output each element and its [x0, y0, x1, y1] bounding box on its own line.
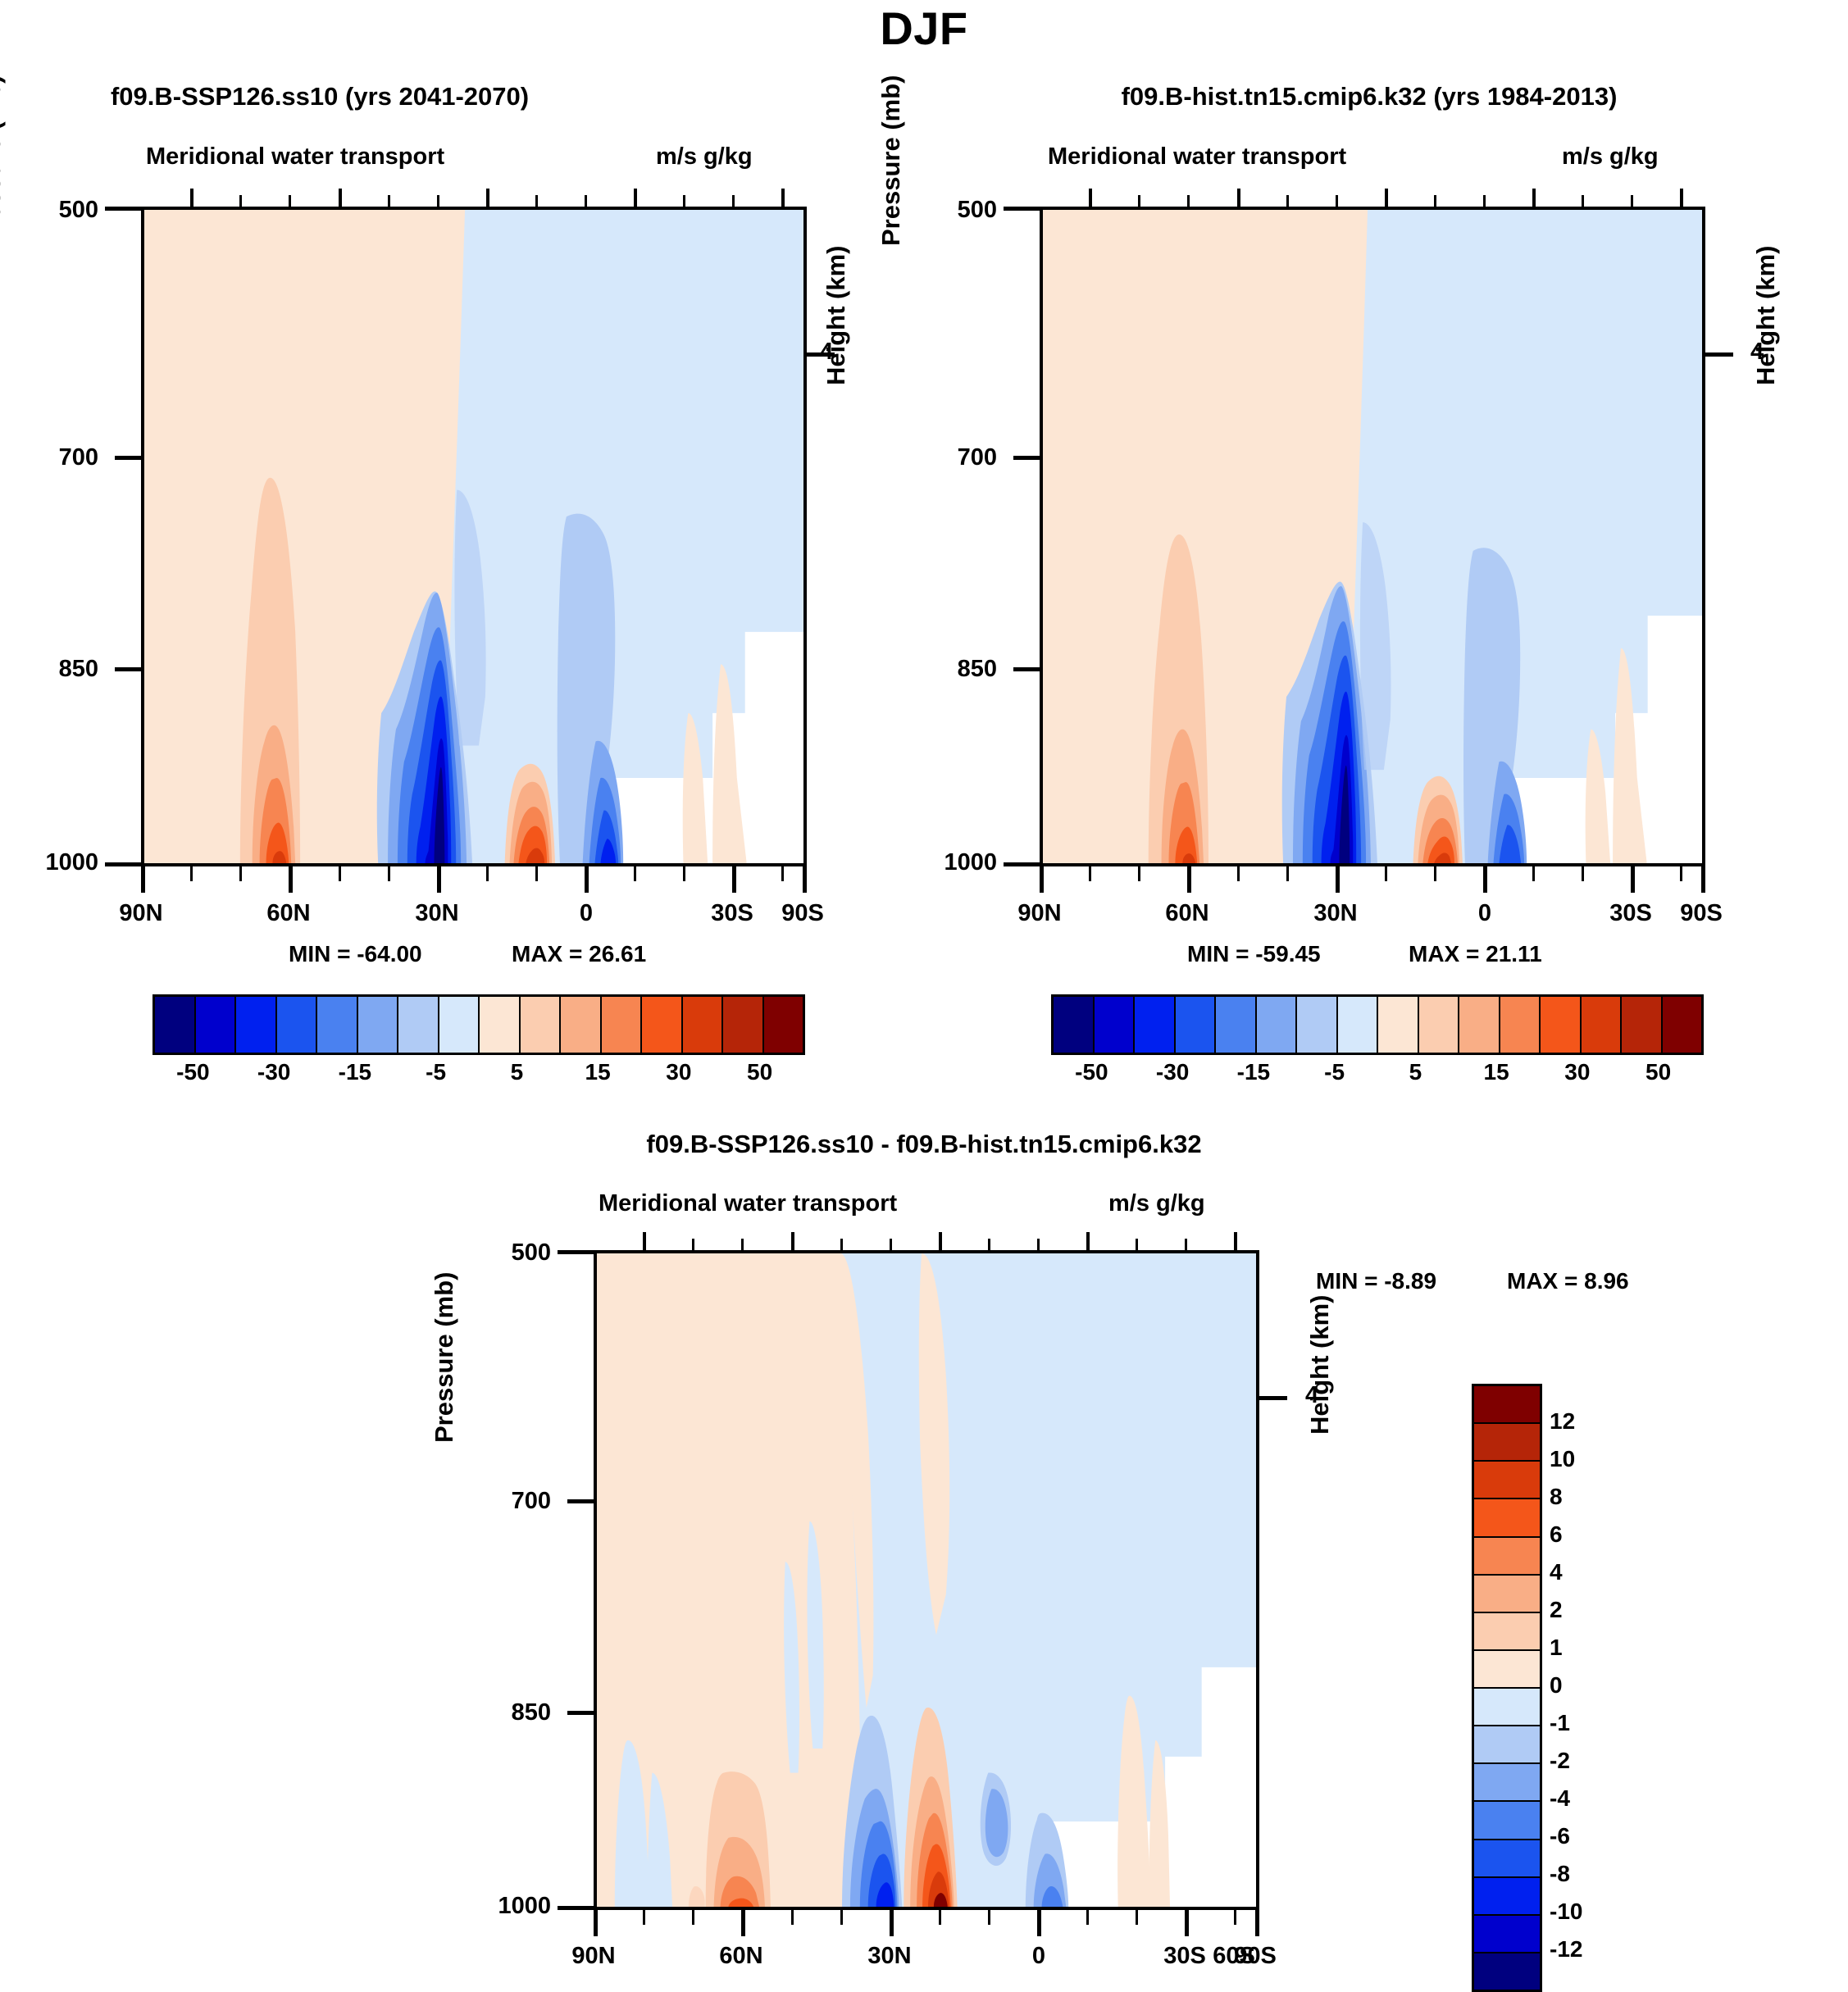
xtick-90S-b [1255, 1910, 1259, 1936]
xtick-90N-tl [141, 866, 145, 893]
tick-top-tl-5 [388, 195, 390, 207]
colorbar-swatch-1 [196, 997, 237, 1053]
colorbar-swatch-9 [521, 997, 562, 1053]
xtick-90N-tr [1040, 866, 1044, 893]
colorbar-swatch-diff-9 [1474, 1726, 1540, 1764]
ytick-1000-b [558, 1906, 594, 1910]
tick-top-tr-12 [1631, 195, 1633, 207]
colorbar-swatch-14 [723, 997, 764, 1053]
tick-top-b-5 [840, 1239, 843, 1250]
tick-top-b-6 [890, 1239, 892, 1250]
tick-top-tr-5 [1286, 195, 1289, 207]
ytick-850-tl [115, 667, 141, 671]
colorbar-swatch-diff-5 [1474, 1576, 1540, 1613]
colorbar-tick--50: -50 [1075, 1059, 1108, 1085]
tick-top-tl-9 [585, 195, 587, 207]
colorbar-tick-15: 15 [1484, 1059, 1509, 1085]
colorbar-swatch-2 [1135, 997, 1176, 1053]
contour-field-top-left [144, 210, 803, 863]
colorbar-tick-30: 30 [1564, 1059, 1590, 1085]
xtick-minor-tl-9 [781, 866, 784, 881]
tick-top-tr-11 [1582, 195, 1584, 207]
colorbar-swatch-8 [480, 997, 521, 1053]
colorbar-swatch-7 [439, 997, 480, 1053]
tick-top-tr-7 [1385, 189, 1388, 207]
xtick-minor-tl-7 [634, 866, 636, 881]
xlabel-60N-tr: 60N [1138, 900, 1236, 927]
y-tick-1000-tl: 1000 [16, 849, 98, 876]
ytick-500-tr [1004, 207, 1040, 211]
xtick-0-tl [585, 866, 589, 893]
colorbar-labels-top-right: -50-30-15-55153050 [1051, 1059, 1699, 1092]
colorbar-swatch-4 [1216, 997, 1257, 1053]
y-tick-1000-b: 1000 [469, 1893, 551, 1920]
tick-top-b-8 [988, 1239, 990, 1250]
xtick-60N-tl [289, 866, 293, 893]
y-right-title-top-left: Height (km) [822, 164, 851, 385]
min-label-tl: MIN = -64.00 [289, 941, 422, 967]
colorbar-tick-diff-10: 10 [1550, 1446, 1575, 1472]
panel-title-bottom: f09.B-SSP126.ss10 - f09.B-hist.tn15.cmip… [432, 1130, 1416, 1159]
ytick-1000-tr [1004, 862, 1040, 866]
max-label-tr: MAX = 21.11 [1409, 941, 1542, 967]
colorbar-labels-top-left: -50-30-15-55153050 [152, 1059, 800, 1092]
colorbar-swatch-13 [683, 997, 724, 1053]
colorbar-swatch-diff-11 [1474, 1802, 1540, 1840]
xtick-30S-tl [732, 866, 736, 893]
xlabel-30N-tl: 30N [388, 900, 486, 927]
xtick-30N-tr [1336, 866, 1340, 893]
tick-top-tr-13 [1680, 189, 1683, 207]
plot-area-top-left[interactable] [141, 207, 807, 866]
xtick-90S-tr [1701, 866, 1705, 893]
tick-top-tl-2 [239, 195, 242, 207]
colorbar-swatch-diff-14 [1474, 1916, 1540, 1953]
y-axis-title-bottom: Pressure (mb) [430, 1098, 459, 1443]
y-tick-500-b: 500 [485, 1239, 551, 1267]
xtick-minor-b-9 [1234, 1910, 1236, 1925]
xtick-minor-tr-1 [1089, 866, 1091, 881]
ytick-right-4-tr [1705, 352, 1733, 357]
xtick-minor-b-3 [791, 1910, 794, 1925]
colorbar-tick-diff--8: -8 [1550, 1861, 1570, 1887]
xtick-minor-tl-6 [535, 866, 538, 881]
colorbar-tick-diff-6: 6 [1550, 1521, 1563, 1548]
y-axis-title-top-right: Pressure (mb) [876, 0, 906, 246]
colorbar-tick-diff--2: -2 [1550, 1748, 1570, 1774]
y-tick-500-tl: 500 [33, 197, 98, 224]
tick-top-tr-8 [1434, 195, 1436, 207]
xtick-minor-tr-9 [1680, 866, 1682, 881]
xtick-minor-tl-8 [683, 866, 685, 881]
colorbar-swatch-diff-2 [1474, 1462, 1540, 1499]
tick-top-b-10 [1086, 1232, 1090, 1250]
colorbar-tick--30: -30 [257, 1059, 290, 1085]
xlabel-90N-tr: 90N [990, 900, 1089, 927]
colorbar-bottom[interactable] [1472, 1384, 1542, 1992]
xtick-minor-tl-2 [239, 866, 242, 881]
figure-title: DJF [0, 2, 1848, 55]
xtick-60N-b [741, 1910, 745, 1936]
colorbar-swatch-11 [602, 997, 643, 1053]
colorbar-labels-bottom: 1210864210-1-2-4-6-8-10-12 [1550, 1384, 1648, 1987]
y-tick-500-tr: 500 [931, 197, 997, 224]
tick-top-tl-7 [486, 189, 489, 207]
ytick-700-tl [115, 456, 141, 460]
colorbar-tick-diff--10: -10 [1550, 1899, 1582, 1925]
y-tick-700-tr: 700 [931, 444, 997, 471]
y-tick-850-tl: 850 [33, 656, 98, 683]
colorbar-tick--5: -5 [426, 1059, 446, 1085]
xtick-minor-tl-4 [388, 866, 390, 881]
colorbar-tick-diff-8: 8 [1550, 1484, 1563, 1510]
y-tick-850-b: 850 [485, 1699, 551, 1726]
y-right-title-top-right: Height (km) [1751, 164, 1781, 385]
xtick-minor-tl-1 [190, 866, 193, 881]
xlabel-0-b: 0 [990, 1943, 1088, 1970]
max-label-b: MAX = 8.96 [1507, 1268, 1629, 1294]
colorbar-tick-50: 50 [1645, 1059, 1671, 1085]
tick-top-tr-3 [1187, 195, 1190, 207]
xtick-30N-tl [437, 866, 441, 893]
colorbar-swatch-diff-6 [1474, 1613, 1540, 1651]
colorbar-swatch-diff-15 [1474, 1953, 1540, 1990]
contour-field-top-right [1043, 210, 1702, 863]
colorbar-tick-diff--1: -1 [1550, 1710, 1570, 1736]
colorbar-tick-30: 30 [666, 1059, 691, 1085]
tick-top-tr-9 [1483, 195, 1486, 207]
plot-area-bottom[interactable] [594, 1250, 1259, 1910]
colorbar-swatch-12 [1541, 997, 1582, 1053]
tick-top-b-13 [1234, 1232, 1237, 1250]
xtick-minor-tr-4 [1286, 866, 1289, 881]
xtick-minor-b-1 [643, 1910, 645, 1925]
xtick-30S-tr [1631, 866, 1635, 893]
tick-top-tl-6 [437, 195, 439, 207]
xlabel-90S-tr: 90S [1652, 900, 1750, 927]
colorbar-swatch-diff-13 [1474, 1878, 1540, 1916]
colorbar-swatch-4 [317, 997, 358, 1053]
colorbar-tick--50: -50 [176, 1059, 209, 1085]
colorbar-tick-50: 50 [747, 1059, 772, 1085]
min-label-tr: MIN = -59.45 [1187, 941, 1321, 967]
tick-top-b-12 [1185, 1239, 1187, 1250]
panel-variable-top-right: Meridional water transport [1048, 143, 1346, 171]
colorbar-tick-15: 15 [585, 1059, 611, 1085]
colorbar-swatch-diff-12 [1474, 1840, 1540, 1878]
y-tick-1000-tr: 1000 [915, 849, 997, 876]
xlabel-90N-b: 90N [544, 1943, 643, 1970]
y-tick-850-tr: 850 [931, 656, 997, 683]
xtick-90N-b [594, 1910, 598, 1936]
colorbar-swatch-15 [764, 997, 803, 1053]
tick-top-b-3 [741, 1239, 744, 1250]
tick-top-b-4 [791, 1232, 794, 1250]
tick-top-b-7 [939, 1232, 942, 1250]
colorbar-tick-diff-0: 0 [1550, 1672, 1563, 1699]
xtick-minor-tr-6 [1434, 866, 1436, 881]
ytick-right-4-b [1259, 1396, 1287, 1400]
xtick-minor-tr-5 [1385, 866, 1387, 881]
tick-top-tr-6 [1336, 195, 1338, 207]
xtick-minor-b-2 [692, 1910, 694, 1925]
y-tick-700-tl: 700 [33, 444, 98, 471]
colorbar-tick-diff-4: 4 [1550, 1559, 1563, 1585]
xtick-minor-tl-3 [339, 866, 341, 881]
colorbar-tick-diff-2: 2 [1550, 1597, 1563, 1623]
panel-units-top-right: m/s g/kg [1562, 143, 1659, 171]
tick-top-tl-11 [683, 195, 685, 207]
colorbar-swatch-diff-3 [1474, 1499, 1540, 1537]
ytick-500-tl [105, 207, 141, 211]
min-label-b: MIN = -8.89 [1316, 1268, 1436, 1294]
panel-units-bottom: m/s g/kg [1108, 1190, 1205, 1217]
xtick-0-tr [1483, 866, 1487, 893]
colorbar-tick-diff--6: -6 [1550, 1823, 1570, 1849]
xlabel-0-tr: 0 [1436, 900, 1534, 927]
colorbar-swatch-diff-4 [1474, 1538, 1540, 1576]
tick-top-tl-10 [634, 189, 637, 207]
colorbar-swatch-0 [155, 997, 196, 1053]
colorbar-swatch-1 [1095, 997, 1136, 1053]
colorbar-swatch-0 [1054, 997, 1095, 1053]
xtick-0-b [1037, 1910, 1041, 1936]
max-label-tl: MAX = 26.61 [512, 941, 646, 967]
xtick-30N-b [890, 1910, 894, 1936]
xlabel-60N-b: 60N [692, 1943, 790, 1970]
tick-top-tr-2 [1138, 195, 1140, 207]
tick-top-tl-8 [535, 195, 538, 207]
panel-variable-bottom: Meridional water transport [599, 1190, 897, 1217]
xtick-minor-b-7 [1086, 1910, 1089, 1925]
xtick-minor-tr-8 [1582, 866, 1584, 881]
ytick-1000-tl [105, 862, 141, 866]
xtick-minor-b-6 [988, 1910, 990, 1925]
colorbar-swatch-3 [277, 997, 318, 1053]
xtick-minor-tr-7 [1532, 866, 1535, 881]
colorbar-swatch-diff-8 [1474, 1689, 1540, 1726]
colorbar-swatch-14 [1622, 997, 1663, 1053]
ytick-850-b [567, 1711, 594, 1715]
ytick-700-tr [1013, 456, 1040, 460]
colorbar-swatch-5 [1257, 997, 1298, 1053]
colorbar-swatch-5 [358, 997, 399, 1053]
tick-top-b-11 [1136, 1239, 1138, 1250]
tick-top-tl-3 [289, 195, 291, 207]
xtick-30S-b [1185, 1910, 1189, 1936]
xtick-minor-tl-5 [486, 866, 489, 881]
colorbar-swatch-6 [398, 997, 439, 1053]
tick-top-tl-13 [781, 189, 785, 207]
colorbar-swatch-2 [236, 997, 277, 1053]
colorbar-tick--15: -15 [339, 1059, 371, 1085]
y-tick-700-b: 700 [485, 1488, 551, 1515]
tick-top-tl-4 [339, 189, 342, 207]
colorbar-top-left[interactable] [152, 994, 805, 1055]
colorbar-tick--15: -15 [1237, 1059, 1270, 1085]
ytick-850-tr [1013, 667, 1040, 671]
tick-top-tl-1 [190, 189, 193, 207]
xlabel-90S-b: 90S [1206, 1943, 1304, 1970]
colorbar-swatch-8 [1378, 997, 1419, 1053]
colorbar-swatch-diff-10 [1474, 1764, 1540, 1802]
plot-area-top-right[interactable] [1040, 207, 1705, 866]
tick-top-tr-1 [1089, 189, 1092, 207]
colorbar-swatch-9 [1419, 997, 1460, 1053]
colorbar-tick-5: 5 [511, 1059, 524, 1085]
xtick-90S-tl [803, 866, 807, 893]
xlabel-90S-tl: 90S [753, 900, 852, 927]
xlabel-90N-tl: 90N [92, 900, 190, 927]
xtick-minor-b-5 [939, 1910, 941, 1925]
ytick-700-b [567, 1499, 594, 1503]
colorbar-swatch-diff-0 [1474, 1386, 1540, 1424]
xtick-minor-b-8 [1136, 1910, 1138, 1925]
colorbar-tick-diff--12: -12 [1550, 1936, 1582, 1962]
tick-top-b-1 [643, 1232, 646, 1250]
colorbar-swatch-15 [1663, 997, 1702, 1053]
tick-top-tr-4 [1237, 189, 1240, 207]
xlabel-30N-b: 30N [840, 1943, 939, 1970]
colorbar-swatch-13 [1582, 997, 1623, 1053]
panel-title-top-left: f09.B-SSP126.ss10 (yrs 2041-2070) [0, 82, 640, 111]
colorbar-tick-diff-1: 1 [1550, 1635, 1563, 1661]
xtick-minor-tr-2 [1138, 866, 1140, 881]
colorbar-tick-diff-12: 12 [1550, 1408, 1575, 1435]
y-right-title-bottom: Height (km) [1305, 1213, 1335, 1435]
colorbar-tick-diff--4: -4 [1550, 1785, 1570, 1812]
colorbar-tick--5: -5 [1324, 1059, 1345, 1085]
tick-top-b-2 [692, 1239, 694, 1250]
ytick-500-b [558, 1250, 594, 1254]
xlabel-60N-tl: 60N [239, 900, 338, 927]
xlabel-30N-tr: 30N [1286, 900, 1385, 927]
colorbar-swatch-3 [1176, 997, 1217, 1053]
colorbar-swatch-diff-1 [1474, 1424, 1540, 1462]
xlabel-0-tl: 0 [537, 900, 635, 927]
tick-top-b-9 [1037, 1239, 1040, 1250]
colorbar-tick--30: -30 [1156, 1059, 1189, 1085]
panel-title-top-right: f09.B-hist.tn15.cmip6.k32 (yrs 1984-2013… [918, 82, 1820, 111]
colorbar-swatch-12 [642, 997, 683, 1053]
y-axis-title-top-left: Pressure (mb) [0, 0, 7, 246]
colorbar-swatch-7 [1338, 997, 1379, 1053]
colorbar-swatch-10 [561, 997, 602, 1053]
colorbar-swatch-6 [1297, 997, 1338, 1053]
contour-field-bottom [597, 1253, 1256, 1907]
colorbar-swatch-11 [1500, 997, 1541, 1053]
xtick-minor-b-4 [840, 1910, 843, 1925]
xtick-60N-tr [1187, 866, 1191, 893]
panel-units-top-left: m/s g/kg [656, 143, 753, 171]
colorbar-swatch-diff-7 [1474, 1651, 1540, 1689]
colorbar-top-right[interactable] [1051, 994, 1704, 1055]
colorbar-tick-5: 5 [1409, 1059, 1422, 1085]
panel-variable-top-left: Meridional water transport [146, 143, 444, 171]
tick-top-tl-12 [732, 195, 735, 207]
tick-top-tr-10 [1532, 189, 1536, 207]
colorbar-swatch-10 [1459, 997, 1500, 1053]
xtick-minor-tr-3 [1237, 866, 1240, 881]
